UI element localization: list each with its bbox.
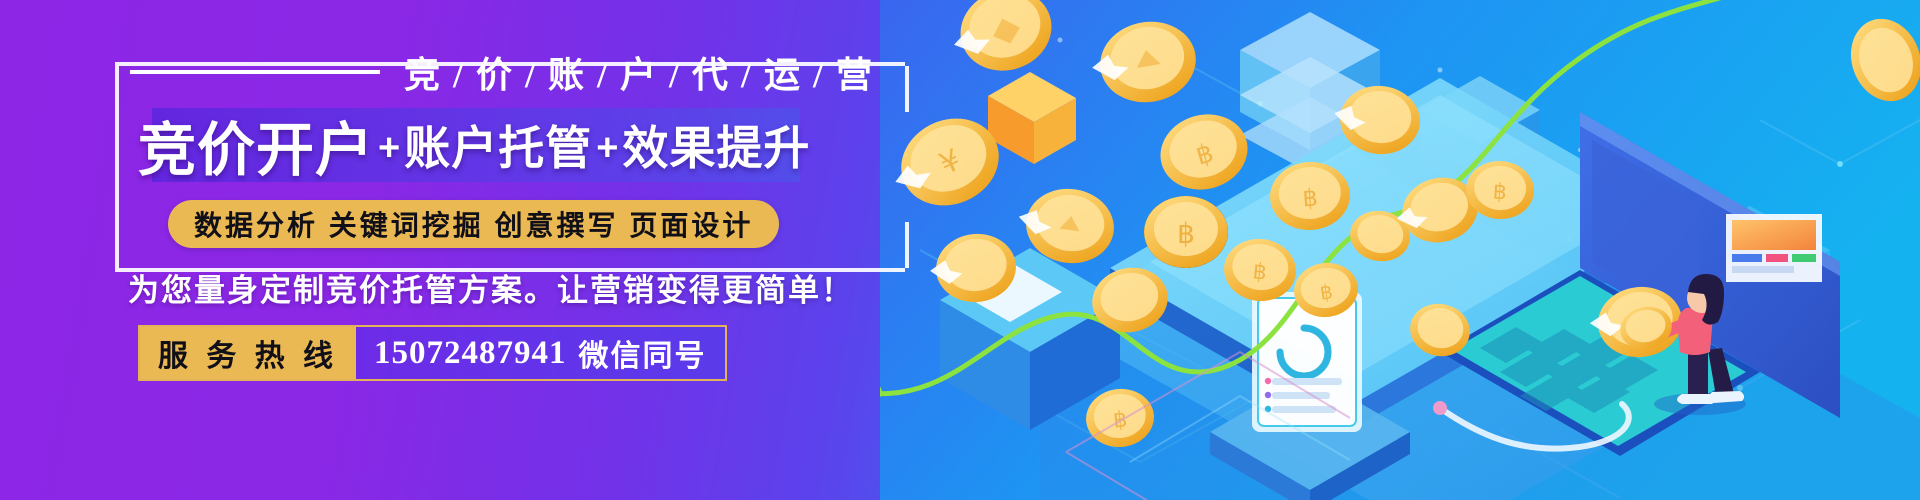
svg-text:฿: ฿ <box>1302 183 1319 212</box>
svg-text:฿: ฿ <box>1251 259 1268 285</box>
headline-part-3: 效果提升 <box>622 112 810 178</box>
headline-plus-1: + <box>374 127 404 170</box>
headline-plus-2: + <box>592 127 622 170</box>
kicker-rule <box>130 70 380 74</box>
hotline-number[interactable]: 15072487941 <box>374 335 567 372</box>
hotline-wechat-note: 微信同号 <box>579 331 707 375</box>
hotline-label: 服 务 热 线 <box>140 327 356 379</box>
tagline: 为您量身定制竞价托管方案。让营销变得更简单！ <box>128 265 928 310</box>
headline-part-1: 竞价开户 <box>138 103 374 187</box>
promo-banner: ¥ ฿ <box>0 0 1920 500</box>
kicker-row: 竞 / 价 / 账 / 户 / 代 / 运 / 营 <box>120 50 910 94</box>
hotline-bar[interactable]: 服 务 热 线 15072487941 微信同号 <box>138 325 727 381</box>
keywords-pill: 数据分析 关键词挖掘 创意撰写 页面设计 <box>168 200 779 248</box>
banner-copy-block: 竞 / 价 / 账 / 户 / 代 / 运 / 营 竞价开户 + 账户托管 + … <box>0 0 960 500</box>
kicker-text: 竞 / 价 / 账 / 户 / 代 / 运 / 营 <box>404 46 874 98</box>
keywords-pill-text: 数据分析 关键词挖掘 创意撰写 页面设计 <box>194 204 753 244</box>
svg-text:฿: ฿ <box>1177 217 1195 250</box>
hotline-value[interactable]: 15072487941 微信同号 <box>356 327 725 379</box>
headline: 竞价开户 + 账户托管 + 效果提升 <box>138 104 898 186</box>
headline-part-2: 账户托管 <box>404 112 592 178</box>
isometric-illustration: ¥ ฿ <box>880 0 1920 500</box>
svg-text:฿: ฿ <box>1492 180 1508 206</box>
